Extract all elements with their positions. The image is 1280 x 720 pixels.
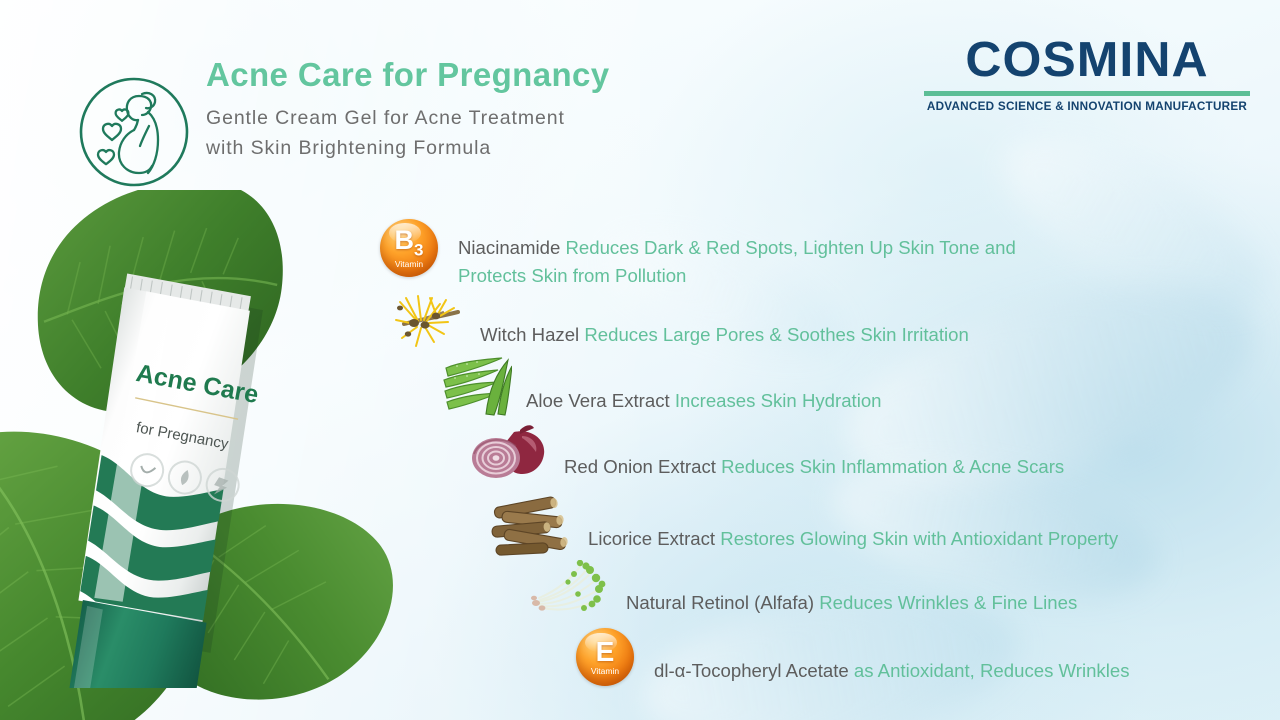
ingredient-text: Niacinamide Reduces Dark & Red Spots, Li… bbox=[458, 206, 1098, 290]
vitamin-subscript: 3 bbox=[414, 241, 423, 260]
vitamin-label: Vitamin bbox=[395, 260, 423, 269]
brand-logo: COSMINA ADVANCED SCIENCE & INNOVATION MA… bbox=[924, 36, 1250, 113]
vitamin-letter: E bbox=[596, 638, 615, 666]
aloe-vera-leaves-image bbox=[442, 356, 512, 418]
ingredient-name: Witch Hazel bbox=[480, 324, 584, 345]
vitamin-e-badge: E Vitamin bbox=[576, 628, 634, 686]
brand-tagline: ADVANCED SCIENCE & INNOVATION MANUFACTUR… bbox=[922, 100, 1251, 113]
ingredient-benefit: as Antioxidant, Reduces Wrinkles bbox=[854, 660, 1130, 681]
list-item: Aloe Vera Extract Increases Skin Hydrati… bbox=[442, 356, 882, 418]
ingredient-name: Red Onion Extract bbox=[564, 456, 721, 477]
ingredient-name: Aloe Vera Extract bbox=[526, 390, 675, 411]
list-item: Witch Hazel Reduces Large Pores & Soothe… bbox=[388, 290, 969, 352]
ingredient-benefit: Reduces Skin Inflammation & Acne Scars bbox=[721, 456, 1064, 477]
ingredient-text: Licorice Extract Restores Glowing Skin w… bbox=[588, 497, 1118, 553]
pregnancy-icon bbox=[76, 74, 192, 190]
list-item: Licorice Extract Restores Glowing Skin w… bbox=[488, 492, 1118, 558]
product-tube-svg: Acne Care for Pregnancy bbox=[28, 268, 358, 688]
list-item: Natural Retinol (Alfafa) Reduces Wrinkle… bbox=[530, 560, 1077, 618]
ingredient-text: dl-α-Tocopheryl Acetate as Antioxidant, … bbox=[654, 629, 1130, 685]
ingredient-name: Niacinamide bbox=[458, 237, 565, 258]
ingredient-name: Licorice Extract bbox=[588, 528, 720, 549]
ingredient-name: Natural Retinol (Alfafa) bbox=[626, 592, 819, 613]
pregnant-woman-icon bbox=[76, 74, 192, 190]
ingredient-text: Witch Hazel Reduces Large Pores & Soothe… bbox=[480, 293, 969, 349]
list-item: Red Onion Extract Reduces Skin Inflammat… bbox=[470, 422, 1064, 484]
list-item: E Vitamin dl-α-Tocopheryl Acetate as Ant… bbox=[576, 628, 1130, 686]
ingredient-list: B3 Vitamin Niacinamide Reduces Dark & Re… bbox=[380, 200, 1270, 700]
page-subtitle: Gentle Cream Gel for Acne Treatment with… bbox=[206, 103, 726, 163]
ingredient-benefit: Reduces Large Pores & Soothes Skin Irrit… bbox=[584, 324, 968, 345]
title-block: Acne Care for Pregnancy Gentle Cream Gel… bbox=[206, 56, 726, 163]
ingredient-benefit: Increases Skin Hydration bbox=[675, 390, 882, 411]
product-tube: Acne Care for Pregnancy bbox=[28, 268, 358, 688]
ingredient-benefit: Restores Glowing Skin with Antioxidant P… bbox=[720, 528, 1118, 549]
ingredient-text: Red Onion Extract Reduces Skin Inflammat… bbox=[564, 425, 1064, 481]
slide-canvas: Acne Care for Pregnancy bbox=[0, 0, 1280, 720]
vitamin-letter: B bbox=[395, 225, 415, 255]
ingredient-name: dl-α-Tocopheryl Acetate bbox=[654, 660, 854, 681]
vitamin-b3-badge: B3 Vitamin bbox=[380, 219, 438, 277]
witch-hazel-flower-image bbox=[388, 290, 466, 352]
licorice-root-image bbox=[488, 492, 574, 558]
red-onion-image bbox=[470, 422, 550, 484]
ingredient-benefit: Reduces Wrinkles & Fine Lines bbox=[819, 592, 1077, 613]
page-title: Acne Care for Pregnancy bbox=[206, 56, 726, 94]
logo-divider bbox=[924, 91, 1250, 96]
brand-name: COSMINA bbox=[921, 36, 1254, 84]
ingredient-text: Aloe Vera Extract Increases Skin Hydrati… bbox=[526, 359, 882, 415]
vitamin-label: Vitamin bbox=[591, 667, 619, 676]
list-item: B3 Vitamin Niacinamide Reduces Dark & Re… bbox=[380, 206, 1098, 290]
alfalfa-sprouts-image bbox=[530, 560, 612, 618]
ingredient-text: Natural Retinol (Alfafa) Reduces Wrinkle… bbox=[626, 561, 1077, 617]
